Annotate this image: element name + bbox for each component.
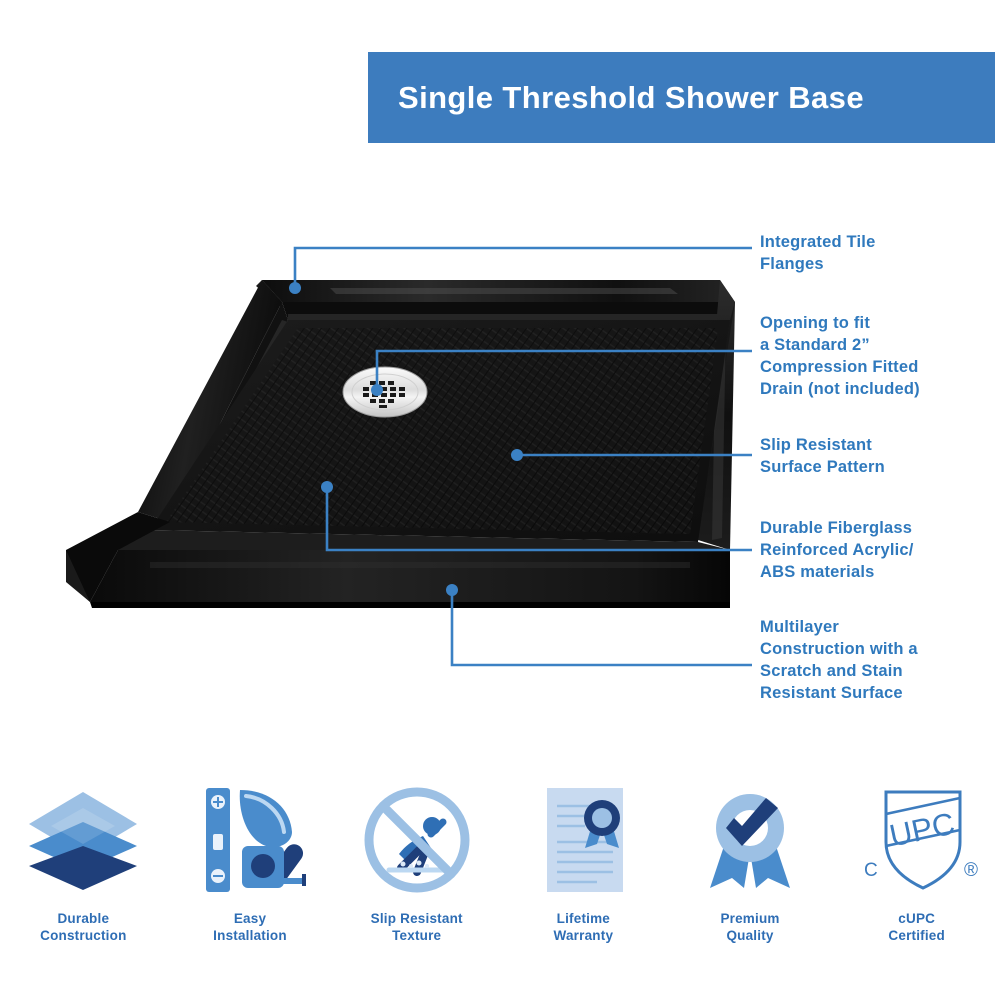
feature-label: Durable Construction xyxy=(40,910,126,945)
feature-badge-row: Durable Construction xyxy=(0,778,1000,968)
feature-lifetime-warranty: Lifetime Warranty xyxy=(500,778,667,968)
feature-label: Lifetime Warranty xyxy=(554,910,614,945)
cupc-registered-mark: ® xyxy=(964,860,978,881)
feature-easy-installation: Easy Installation xyxy=(167,778,334,968)
callout-slip-resistant-surface: Slip Resistant Surface Pattern xyxy=(760,435,885,479)
callout-drain-opening: Opening to fit a Standard 2” Compression… xyxy=(760,313,920,401)
no-slip-icon xyxy=(359,778,475,896)
infographic-root: Single Threshold Shower Base xyxy=(0,0,1000,1000)
feature-durable-construction: Durable Construction xyxy=(0,778,167,968)
feature-label: Premium Quality xyxy=(720,910,779,945)
callout-durable-materials: Durable Fiberglass Reinforced Acrylic/ A… xyxy=(760,518,914,584)
layered-sheets-icon xyxy=(25,778,141,896)
level-and-trowel-icon xyxy=(192,778,308,896)
feature-slip-resistant-texture: Slip Resistant Texture xyxy=(333,778,500,968)
cupc-shield-icon: UPC C ® xyxy=(852,778,982,896)
award-ribbon-check-icon xyxy=(692,778,808,896)
cupc-c-mark: C xyxy=(864,860,878,881)
feature-premium-quality: Premium Quality xyxy=(667,778,834,968)
feature-label: Easy Installation xyxy=(213,910,287,945)
certificate-award-icon xyxy=(525,778,641,896)
callout-multilayer-construction: Multilayer Construction with a Scratch a… xyxy=(760,617,918,705)
feature-label: Slip Resistant Texture xyxy=(371,910,463,945)
feature-cupc-certified: UPC C ® cUPC Certified xyxy=(833,778,1000,968)
callout-integrated-tile-flanges: Integrated Tile Flanges xyxy=(760,232,875,276)
feature-label: cUPC Certified xyxy=(888,910,945,945)
